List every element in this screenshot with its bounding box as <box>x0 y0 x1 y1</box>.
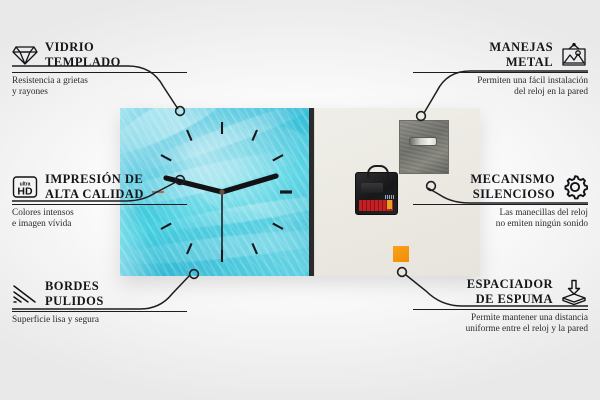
callout-desc-line2: e imagen vívida <box>12 219 187 230</box>
callout-description: Permiten una fácil instalación del reloj… <box>413 76 588 99</box>
mechanism-dial <box>361 183 383 193</box>
callout-desc-line1: Permite mantener una distancia <box>471 313 588 323</box>
foam-spacer-icon <box>560 279 588 305</box>
callout-title-line2: TEMPLADO <box>45 55 121 70</box>
callout-title-line1: IMPRESIÓN DE <box>45 172 143 186</box>
callout-title: BORDES PULIDOS <box>45 279 104 308</box>
callout-title: VIDRIO TEMPLADO <box>45 40 121 69</box>
callout-mecanismo-silencioso: MECANISMO SILENCIOSO Las manecillas del … <box>413 172 588 231</box>
callout-desc-line1: Las manecillas del reloj <box>499 208 588 218</box>
callout-description: Las manecillas del reloj no emiten ningú… <box>413 208 588 231</box>
callout-divider <box>12 72 187 73</box>
callout-title: ESPACIADOR DE ESPUMA <box>467 277 553 306</box>
callout-bordes-pulidos: BORDES PULIDOS Superficie lisa y segura <box>12 279 187 326</box>
callout-desc-line2: del reloj en la pared <box>413 87 588 98</box>
callout-desc-line1: Superficie lisa y segura <box>12 315 99 325</box>
callout-desc-line2: no emiten ningún sonido <box>413 219 588 230</box>
callout-description: Permite mantener una distancia uniforme … <box>413 313 588 336</box>
callout-title-line1: ESPACIADOR <box>467 277 553 291</box>
ultra-hd-icon: ultra HD <box>12 175 38 199</box>
diamond-icon <box>12 44 38 66</box>
callout-divider <box>12 311 187 312</box>
callout-title-line2: METAL <box>489 55 553 70</box>
callout-title-line1: VIDRIO <box>45 40 94 54</box>
callout-desc-line2: y rayones <box>12 87 187 98</box>
metal-hanger-plate <box>399 120 449 174</box>
callout-manejas-metal: MANEJAS METAL Permiten una fácil instala… <box>413 40 588 99</box>
foam-spacer-pad <box>393 246 409 262</box>
callout-title: MECANISMO SILENCIOSO <box>470 172 555 201</box>
quartz-mechanism-box <box>355 172 398 215</box>
callout-divider <box>413 72 588 73</box>
callout-desc-line1: Colores intensos <box>12 208 74 218</box>
polished-edge-icon <box>12 283 38 305</box>
callout-description: Resistencia a grietas y rayones <box>12 76 187 99</box>
picture-hanger-icon <box>560 43 588 67</box>
callout-description: Superficie lisa y segura <box>12 315 187 326</box>
callout-title-line1: MECANISMO <box>470 172 555 186</box>
callout-title-line2: SILENCIOSO <box>470 187 555 202</box>
callout-title-line1: MANEJAS <box>489 40 553 54</box>
callout-vidrio-templado: VIDRIO TEMPLADO Resistencia a grietas y … <box>12 40 187 99</box>
callout-impresion-alta-calidad: ultra HD IMPRESIÓN DE ALTA CALIDAD Color… <box>12 172 187 231</box>
callout-title-line2: ALTA CALIDAD <box>45 187 144 202</box>
callout-title: MANEJAS METAL <box>489 40 553 69</box>
aa-battery <box>359 200 393 211</box>
callout-title-line1: BORDES <box>45 279 99 293</box>
callout-desc-line1: Permiten una fácil instalación <box>477 76 588 86</box>
infographic-canvas: VIDRIO TEMPLADO Resistencia a grietas y … <box>0 0 600 400</box>
mechanism-contacts <box>385 195 394 199</box>
mechanism-shaft-loop <box>367 165 389 178</box>
callout-title-line2: PULIDOS <box>45 294 104 309</box>
callout-desc-line2: uniforme entre el reloj y la pared <box>413 324 588 335</box>
callout-title: IMPRESIÓN DE ALTA CALIDAD <box>45 172 144 201</box>
callout-description: Colores intensos e imagen vívida <box>12 208 187 231</box>
callout-divider <box>413 309 588 310</box>
callout-espaciador-espuma: ESPACIADOR DE ESPUMA Permite mantener un… <box>413 277 588 336</box>
ultra-hd-icon-bottom-text: HD <box>17 185 33 197</box>
callout-divider <box>12 204 187 205</box>
callout-divider <box>413 204 588 205</box>
gear-icon <box>562 174 588 200</box>
hanger-slot <box>409 137 437 146</box>
callout-title-line2: DE ESPUMA <box>467 292 553 307</box>
callout-desc-line1: Resistencia a grietas <box>12 76 88 86</box>
